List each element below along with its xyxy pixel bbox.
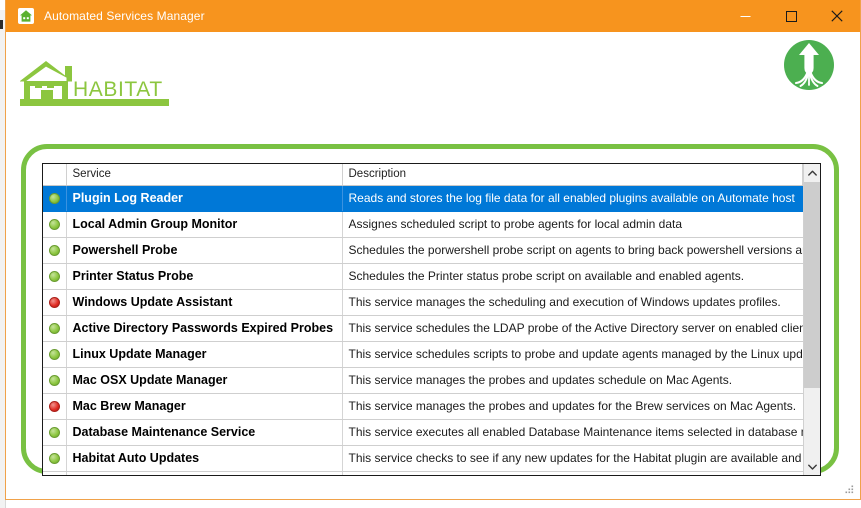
status-dot-green [49, 453, 60, 464]
table-row[interactable]: Printer Status Probe Schedules the Print… [43, 263, 803, 289]
table-row[interactable]: Plugin Log Reader Reads and stores the l… [43, 185, 803, 211]
row-service-description: This service schedules scripts to probe … [342, 341, 803, 367]
window-title: Automated Services Manager [44, 9, 722, 23]
status-dot-green [49, 323, 60, 334]
row-service-name: Powershell Probe [66, 237, 342, 263]
title-bar: Automated Services Manager [6, 0, 860, 32]
client-area: HABITAT [6, 32, 860, 499]
row-service-description: This service manages the probes and upda… [342, 393, 803, 419]
resize-grip-icon[interactable] [843, 483, 855, 495]
row-service-name: Local Admin Group Monitor [66, 211, 342, 237]
close-button[interactable] [814, 0, 860, 32]
table-row[interactable]: Habitat Auto Updates This service checks… [43, 445, 803, 471]
status-dot-red [49, 401, 60, 412]
maximize-button[interactable] [768, 0, 814, 32]
table-row[interactable]: Database Maintenance Service This servic… [43, 419, 803, 445]
row-status-cell [43, 367, 66, 393]
table-row-partial[interactable] [43, 471, 803, 475]
house-icon [18, 8, 34, 24]
maximize-icon [786, 11, 797, 22]
row-status-cell [43, 419, 66, 445]
chevron-down-icon [808, 464, 817, 470]
status-dot-green [49, 193, 60, 204]
chevron-up-icon [808, 170, 817, 176]
table-row[interactable]: Powershell Probe Schedules the porwershe… [43, 237, 803, 263]
table-header-row: Service Description [43, 164, 803, 185]
background-window-sliver-mark [0, 20, 3, 29]
row-status-cell [43, 211, 66, 237]
desktop-background: Automated Services Manager [0, 0, 861, 508]
row-status-cell [43, 263, 66, 289]
row-service-name: Linux Update Manager [66, 341, 342, 367]
row-service-description: Schedules the Printer status probe scrip… [342, 263, 803, 289]
row-service-name: Printer Status Probe [66, 263, 342, 289]
row-service-description: Reads and stores the log file data for a… [342, 185, 803, 211]
row-service-name: Database Maintenance Service [66, 419, 342, 445]
status-dot-green [49, 271, 60, 282]
table-row[interactable]: Linux Update Manager This service schedu… [43, 341, 803, 367]
row-status-cell [43, 471, 66, 475]
table-row[interactable]: Mac Brew Manager This service manages th… [43, 393, 803, 419]
table-row[interactable]: Mac OSX Update Manager This service mana… [43, 367, 803, 393]
row-service-name: Windows Update Assistant [66, 289, 342, 315]
scroll-down-button[interactable] [804, 458, 820, 475]
squid-circle-logo [776, 32, 842, 98]
row-service-description [342, 471, 803, 475]
row-service-name: Habitat Auto Updates [66, 445, 342, 471]
services-table-body: Plugin Log Reader Reads and stores the l… [43, 185, 803, 475]
row-service-name: Mac OSX Update Manager [66, 367, 342, 393]
row-service-description: This service manages the scheduling and … [342, 289, 803, 315]
status-dot-green [49, 219, 60, 230]
row-status-cell [43, 315, 66, 341]
row-status-cell [43, 393, 66, 419]
minimize-button[interactable] [722, 0, 768, 32]
table-row[interactable]: Local Admin Group Monitor Assignes sched… [43, 211, 803, 237]
row-status-cell [43, 289, 66, 315]
table-row[interactable]: Active Directory Passwords Expired Probe… [43, 315, 803, 341]
row-service-description: This service schedules the LDAP probe of… [342, 315, 803, 341]
row-service-description: This service checks to see if any new up… [342, 445, 803, 471]
status-dot-green [49, 375, 60, 386]
status-dot-green [49, 349, 60, 360]
row-service-name: Active Directory Passwords Expired Probe… [66, 315, 342, 341]
row-status-cell [43, 341, 66, 367]
scroll-up-button[interactable] [804, 164, 820, 181]
close-icon [831, 10, 843, 22]
habitat-house-logo: HABITAT [17, 59, 169, 107]
window-controls [722, 0, 860, 32]
services-grid[interactable]: Service Description Plugin Log Reader Re… [42, 163, 821, 476]
row-service-name: Plugin Log Reader [66, 185, 342, 211]
automated-services-manager-window: Automated Services Manager [5, 0, 861, 500]
row-status-cell [43, 185, 66, 211]
row-status-cell [43, 445, 66, 471]
row-service-description: This service manages the probes and upda… [342, 367, 803, 393]
status-dot-red [49, 297, 60, 308]
table-row[interactable]: Windows Update Assistant This service ma… [43, 289, 803, 315]
row-service-description: Schedules the porwershell probe script o… [342, 237, 803, 263]
column-header-status[interactable] [43, 164, 66, 185]
vertical-scrollbar[interactable] [803, 164, 820, 475]
row-service-description: Assignes scheduled script to probe agent… [342, 211, 803, 237]
status-dot-green [49, 427, 60, 438]
column-header-description[interactable]: Description [342, 164, 803, 185]
svg-text:HABITAT: HABITAT [73, 78, 163, 101]
scrollbar-thumb[interactable] [804, 182, 820, 388]
services-table: Service Description Plugin Log Reader Re… [43, 164, 803, 475]
minimize-icon [740, 11, 751, 22]
row-status-cell [43, 237, 66, 263]
services-grid-body: Service Description Plugin Log Reader Re… [43, 164, 803, 475]
row-service-name [66, 471, 342, 475]
status-dot-green [49, 245, 60, 256]
row-service-description: This service executes all enabled Databa… [342, 419, 803, 445]
branding-band: HABITAT [6, 32, 860, 118]
column-header-service[interactable]: Service [66, 164, 342, 185]
row-service-name: Mac Brew Manager [66, 393, 342, 419]
